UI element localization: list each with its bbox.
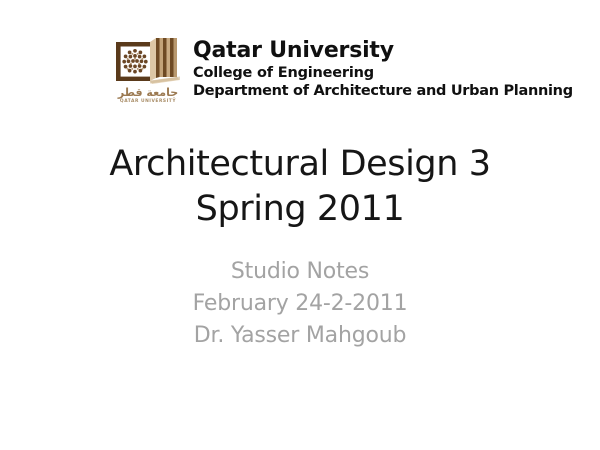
college-name: College of Engineering bbox=[193, 64, 573, 82]
course-title: Architectural Design 3 bbox=[0, 142, 600, 187]
subtitle-date: February 24-2-2011 bbox=[0, 288, 600, 320]
institution-names: Qatar University College of Engineering … bbox=[193, 36, 573, 100]
logo-wordmark: جامعة قطر QATAR UNIVERSITY bbox=[112, 87, 184, 104]
logo-arabic-wordmark: جامعة قطر bbox=[112, 87, 184, 99]
subtitle-document-type: Studio Notes bbox=[0, 256, 600, 288]
slide-title: Architectural Design 3 Spring 2011 bbox=[0, 142, 600, 232]
branding-header: جامعة قطر QATAR UNIVERSITY Qatar Univers… bbox=[112, 36, 573, 104]
subtitle-author: Dr. Yasser Mahgoub bbox=[0, 320, 600, 352]
slide-subtitle: Studio Notes February 24-2-2011 Dr. Yass… bbox=[0, 256, 600, 352]
logo-latin-wordmark: QATAR UNIVERSITY bbox=[112, 99, 184, 105]
qatar-university-logo: جامعة قطر QATAR UNIVERSITY bbox=[112, 36, 184, 104]
title-slide: جامعة قطر QATAR UNIVERSITY Qatar Univers… bbox=[0, 0, 600, 450]
qatar-university-logo-icon bbox=[112, 36, 184, 86]
department-name: Department of Architecture and Urban Pla… bbox=[193, 82, 573, 100]
course-term: Spring 2011 bbox=[0, 187, 600, 232]
university-name: Qatar University bbox=[193, 38, 573, 64]
